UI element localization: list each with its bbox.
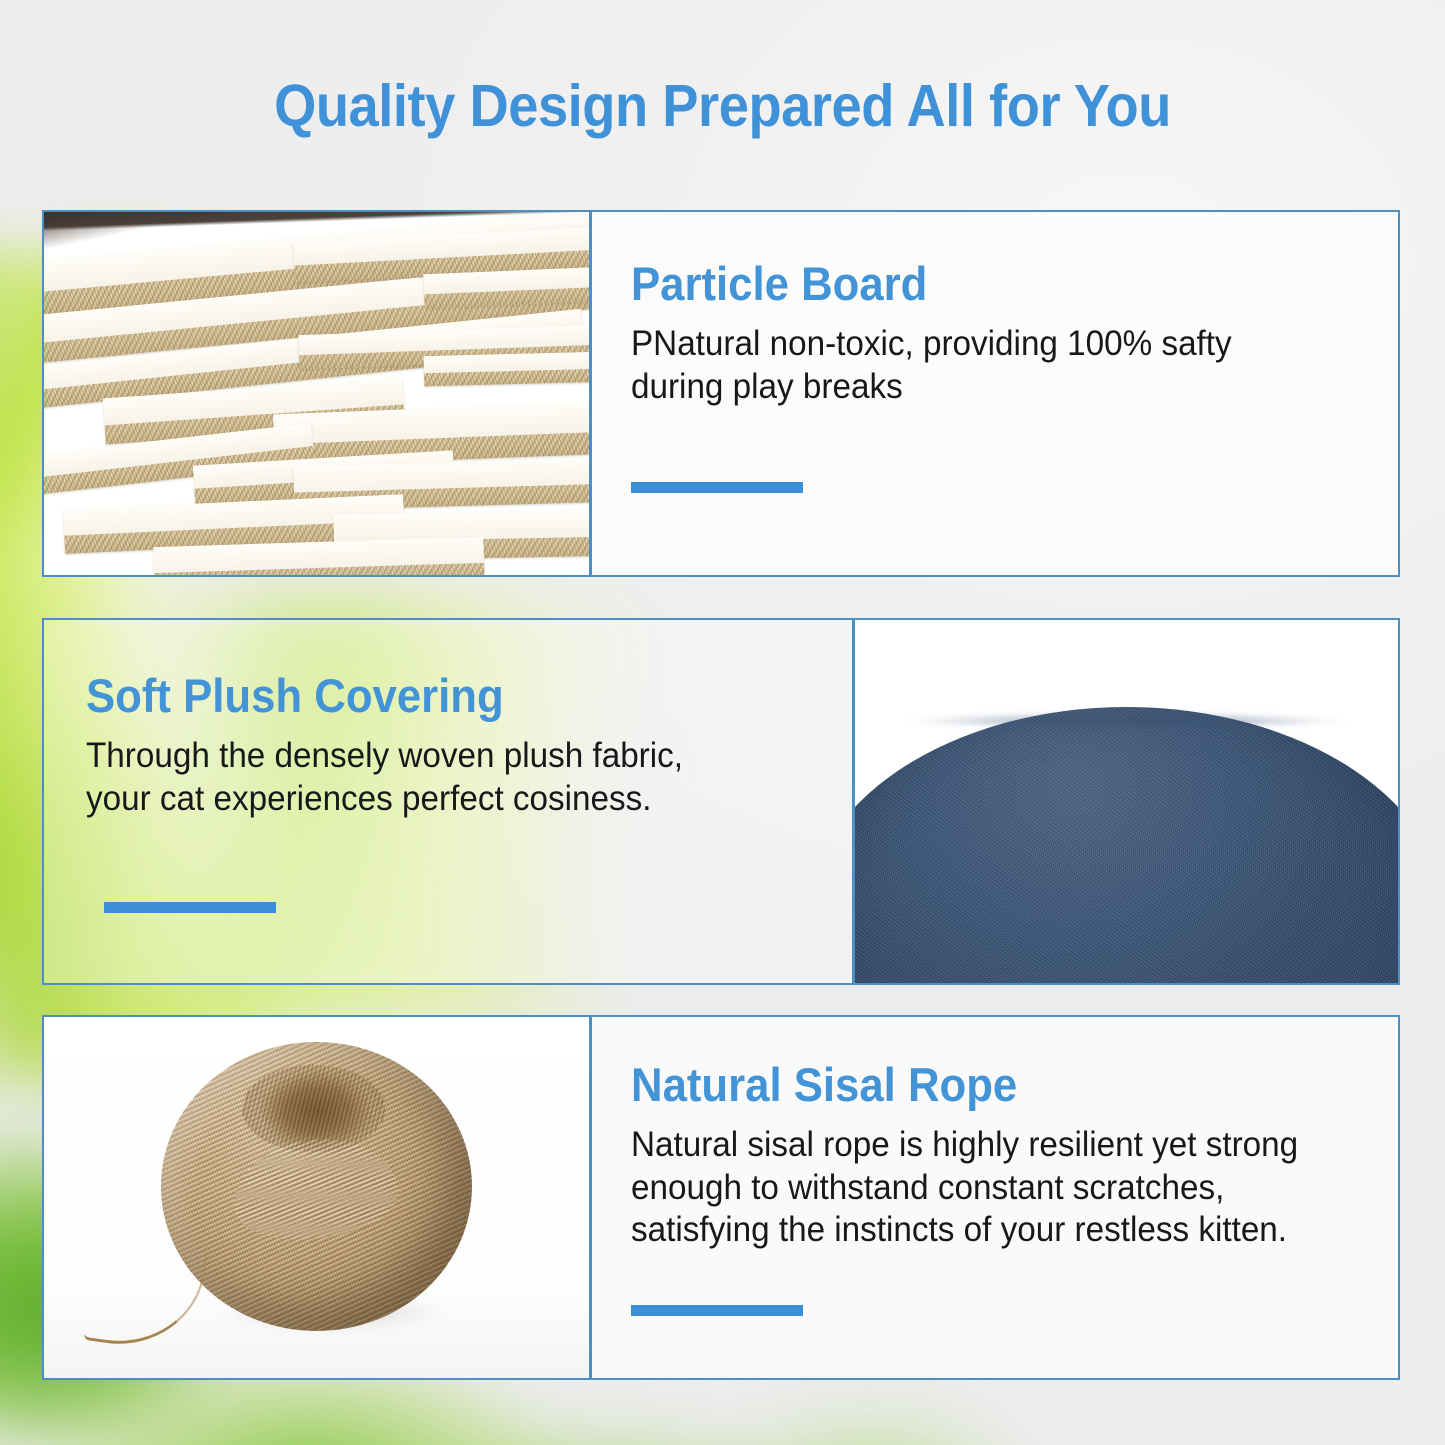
panel-divider [589, 212, 592, 575]
infographic-page: Quality Design Prepared All for You Part… [0, 0, 1445, 1445]
blue-plush-fabric-photo [855, 620, 1398, 983]
feature-text-natural-sisal-rope: Natural Sisal Rope Natural sisal rope is… [589, 1017, 1398, 1378]
plush-fabric-fuzzy-edge [855, 707, 1398, 725]
panel-divider [589, 1017, 592, 1378]
feature-body-soft-plush-covering: Through the densely woven plush fabric, … [86, 735, 742, 820]
feature-card-natural-sisal-rope: Natural Sisal Rope Natural sisal rope is… [42, 1015, 1400, 1380]
accent-underline-bar [631, 482, 803, 493]
feature-title-particle-board: Particle Board [631, 260, 1307, 307]
rope-ball-swirl-band [227, 1131, 402, 1249]
feature-text-soft-plush-covering: Soft Plush Covering Through the densely … [44, 620, 855, 983]
sisal-rope-ball [161, 1042, 472, 1331]
feature-body-natural-sisal-rope: Natural sisal rope is highly resilient y… [631, 1124, 1322, 1252]
particle-board-stack-photo [44, 212, 589, 575]
feature-card-particle-board: Particle Board PNatural non-toxic, provi… [42, 210, 1400, 577]
feature-card-soft-plush-covering: Soft Plush Covering Through the densely … [42, 618, 1400, 985]
feature-text-particle-board: Particle Board PNatural non-toxic, provi… [589, 212, 1398, 575]
plush-fabric-dome [855, 707, 1398, 983]
sisal-rope-ball-photo [44, 1017, 589, 1378]
feature-body-particle-board: PNatural non-toxic, providing 100% safty… [631, 323, 1322, 408]
feature-title-soft-plush-covering: Soft Plush Covering [86, 672, 764, 719]
accent-underline-bar [631, 1305, 803, 1316]
rope-loose-strand [84, 1237, 208, 1356]
feature-title-natural-sisal-rope: Natural Sisal Rope [631, 1061, 1307, 1108]
page-title: Quality Design Prepared All for You [58, 72, 1387, 140]
accent-underline-bar [104, 902, 276, 913]
